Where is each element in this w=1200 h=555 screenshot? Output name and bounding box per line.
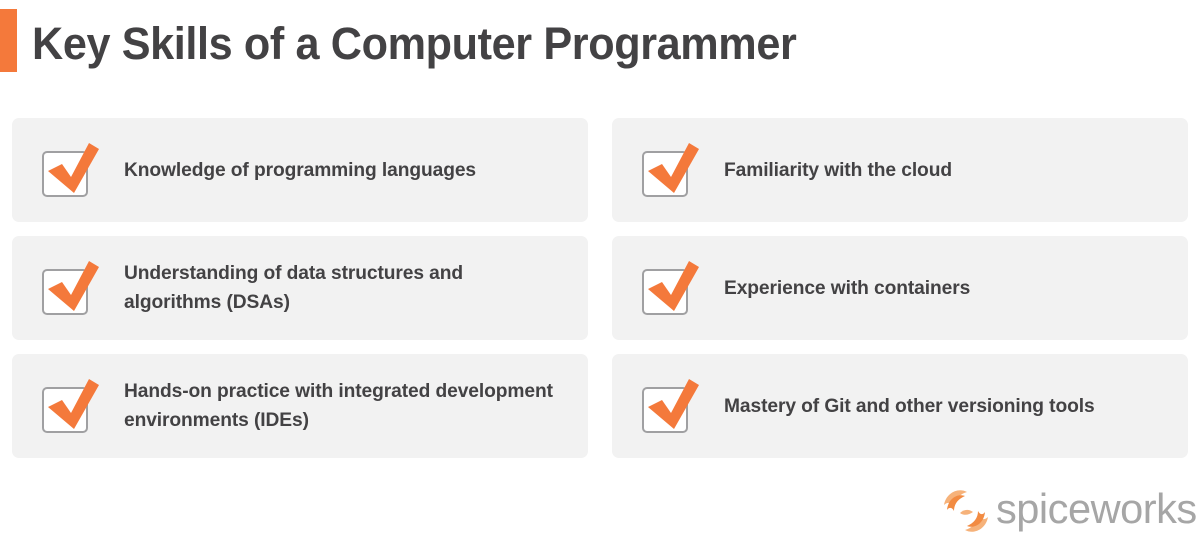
checked-checkbox-icon xyxy=(42,255,104,317)
checked-checkbox-icon xyxy=(642,373,704,435)
page-title: Key Skills of a Computer Programmer xyxy=(32,17,796,71)
header: Key Skills of a Computer Programmer xyxy=(0,0,1200,100)
checked-checkbox-icon xyxy=(642,137,704,199)
skill-label: Knowledge of programming languages xyxy=(124,156,476,185)
skill-card: Mastery of Git and other versioning tool… xyxy=(612,354,1188,458)
skill-label: Understanding of data structures and alg… xyxy=(124,259,557,317)
skill-label: Experience with containers xyxy=(724,274,970,303)
spiceworks-wordmark: spiceworks xyxy=(996,483,1197,535)
skill-label: Familiarity with the cloud xyxy=(724,156,952,185)
spiceworks-pinwheel-icon xyxy=(938,485,994,537)
skill-card: Experience with containers xyxy=(612,236,1188,340)
skill-label: Hands-on practice with integrated develo… xyxy=(124,377,557,435)
skill-card: Knowledge of programming languages xyxy=(12,118,588,222)
spiceworks-logo: spiceworks xyxy=(938,483,1193,538)
checked-checkbox-icon xyxy=(42,137,104,199)
checked-checkbox-icon xyxy=(42,373,104,435)
accent-bar xyxy=(0,9,17,72)
skill-label: Mastery of Git and other versioning tool… xyxy=(724,392,1095,421)
skill-card: Understanding of data structures and alg… xyxy=(12,236,588,340)
checked-checkbox-icon xyxy=(642,255,704,317)
skill-card: Hands-on practice with integrated develo… xyxy=(12,354,588,458)
skill-card: Familiarity with the cloud xyxy=(612,118,1188,222)
skills-card-grid: Knowledge of programming languages Famil… xyxy=(12,118,1188,458)
